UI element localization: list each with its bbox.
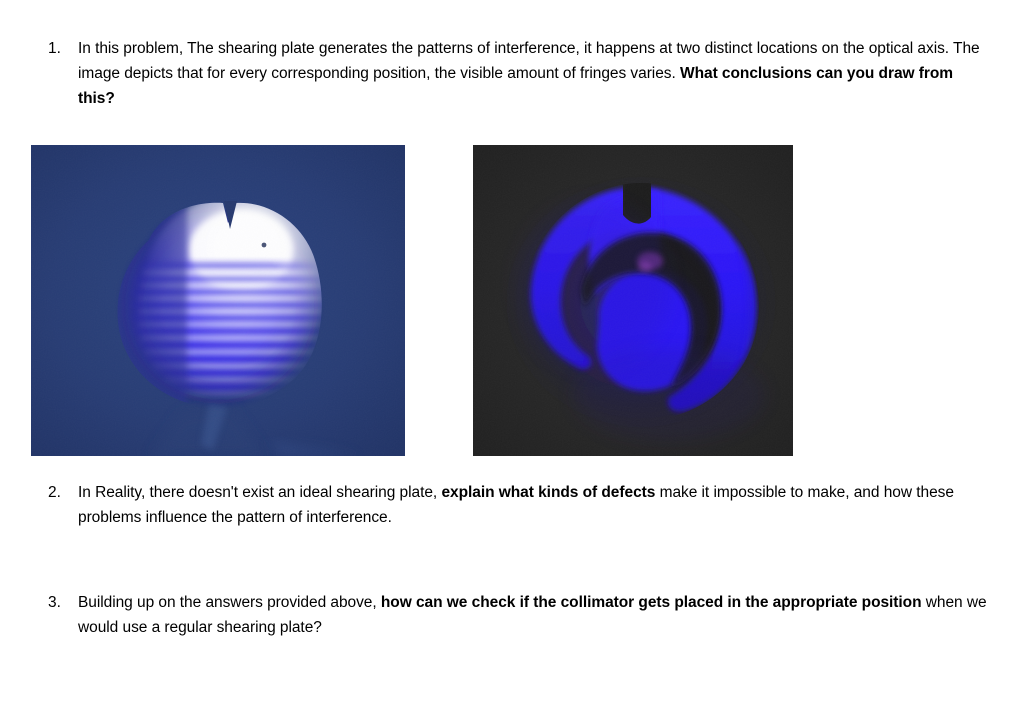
list-marker-3: 3. — [40, 590, 78, 615]
list-item-question-2: 2. In Reality, there doesn't exist an id… — [40, 480, 980, 530]
question-3-segment-0: Building up on the answers provided abov… — [78, 594, 381, 611]
list-item-question-1: 1. In this problem, The shearing plate g… — [40, 36, 995, 111]
list-marker-2: 2. — [40, 480, 78, 505]
document-page: 1. In this problem, The shearing plate g… — [0, 0, 1024, 701]
list-item-question-3: 3. Building up on the answers provided a… — [40, 590, 1005, 640]
question-2-segment-1: explain what kinds of defects — [441, 484, 655, 501]
figure-interferogram-few-fringes — [473, 145, 793, 456]
list-marker-1: 1. — [40, 36, 78, 61]
question-3-text: Building up on the answers provided abov… — [78, 590, 998, 640]
question-2-segment-0: In Reality, there doesn't exist an ideal… — [78, 484, 441, 501]
question-3-segment-1: how can we check if the collimator gets … — [381, 594, 922, 611]
question-2-text: In Reality, there doesn't exist an ideal… — [78, 480, 968, 530]
interferogram-left-graphic — [31, 145, 405, 456]
question-1-text: In this problem, The shearing plate gene… — [78, 36, 990, 111]
interferogram-right-graphic — [473, 145, 793, 456]
figure-interferogram-many-fringes — [31, 145, 405, 456]
